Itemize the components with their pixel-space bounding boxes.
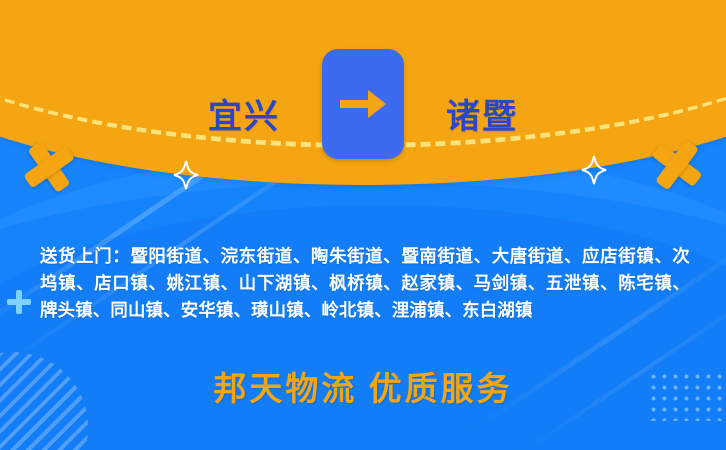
background-wave-lower (0, 205, 726, 450)
plus-icon (7, 290, 31, 314)
sparkle-star-icon (173, 160, 199, 190)
arrow-right-icon (322, 49, 404, 159)
x-cross-icon (647, 135, 708, 196)
company-slogan: 邦天物流 优质服务 (0, 362, 726, 410)
x-cross-icon (18, 136, 81, 199)
delivery-coverage-text: 送货上门：暨阳街道、浣东街道、陶朱街道、暨南街道、大唐街道、应店街镇、次坞镇、店… (40, 243, 690, 324)
origin-city-label: 宜兴 (208, 101, 280, 135)
logistics-route-banner: 宜兴 诸暨 送货上门：暨阳街道、浣东街道、陶朱街道、暨南街道、大唐街道、应店街镇… (0, 0, 726, 450)
destination-city-label: 诸暨 (446, 101, 518, 135)
sparkle-star-icon (581, 155, 607, 185)
route-row: 宜兴 诸暨 (0, 75, 726, 160)
